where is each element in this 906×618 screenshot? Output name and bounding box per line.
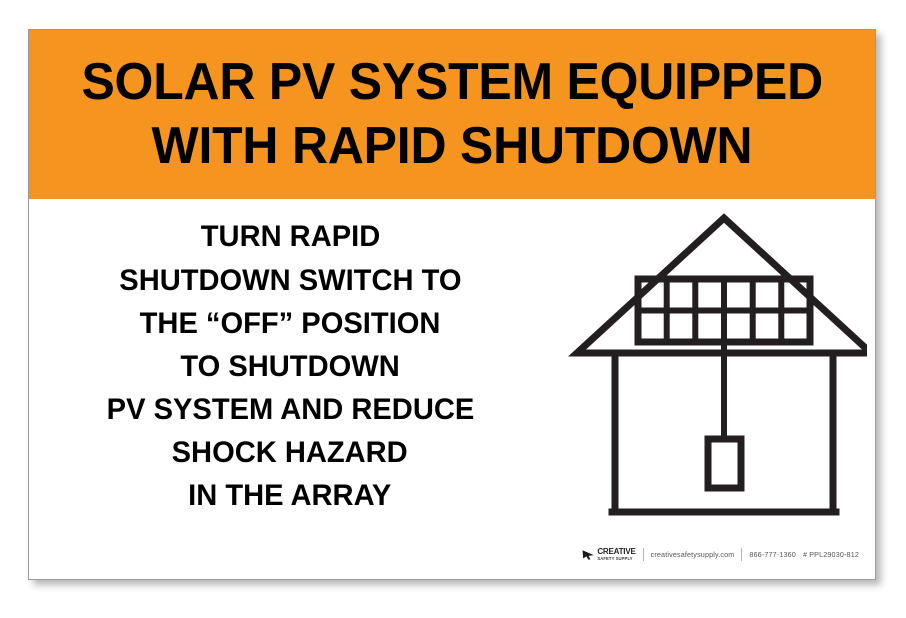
message-line-5: PV SYSTEM AND REDUCE — [106, 388, 474, 431]
footer-divider-1 — [643, 548, 644, 561]
creative-safety-supply-logo: CREATIVE SAFETY SUPPLY — [582, 548, 635, 561]
header-line-2: WITH RAPID SHUTDOWN — [152, 115, 753, 178]
footer-content: CREATIVE SAFETY SUPPLY creativesafetysup… — [582, 548, 859, 561]
message-line-6: SHOCK HAZARD — [172, 431, 408, 474]
brand-secondary-text: SAFETY SUPPLY — [597, 557, 635, 561]
footer-website: creativesafetysupply.com — [651, 550, 735, 559]
message-line-2: SHUTDOWN SWITCH TO — [119, 259, 461, 302]
cursor-arrow-icon — [582, 549, 595, 560]
brand-primary-text: CREATIVE — [597, 548, 635, 556]
footer-part-number: # PPL29030-812 — [803, 550, 859, 559]
sign-footer-bar: CREATIVE SAFETY SUPPLY creativesafetysup… — [29, 533, 875, 579]
house-solar-diagram-svg — [537, 207, 867, 527]
screenshot-canvas: SOLAR PV SYSTEM EQUIPPED WITH RAPID SHUT… — [0, 0, 906, 618]
message-line-4: TO SHUTDOWN — [180, 345, 399, 388]
footer-phone: 866-777-1360 — [749, 550, 796, 559]
message-line-7: IN THE ARRAY — [188, 474, 391, 517]
message-line-3: THE “OFF” POSITION — [140, 302, 441, 345]
house-solar-diagram-icon — [537, 207, 867, 527]
footer-divider-2 — [741, 548, 742, 561]
sign-header-band: SOLAR PV SYSTEM EQUIPPED WITH RAPID SHUT… — [29, 30, 875, 199]
message-line-1: TURN RAPID — [200, 215, 379, 258]
rapid-shutdown-switch-box — [708, 439, 741, 488]
solar-panel-array — [638, 279, 810, 342]
brand-wordmark: CREATIVE SAFETY SUPPLY — [597, 548, 635, 561]
instruction-message-block: TURN RAPID SHUTDOWN SWITCH TO THE “OFF” … — [35, 199, 545, 534]
sign-body-area: TURN RAPID SHUTDOWN SWITCH TO THE “OFF” … — [29, 199, 875, 534]
header-line-1: SOLAR PV SYSTEM EQUIPPED — [81, 51, 823, 114]
safety-sign-panel: SOLAR PV SYSTEM EQUIPPED WITH RAPID SHUT… — [28, 29, 876, 580]
